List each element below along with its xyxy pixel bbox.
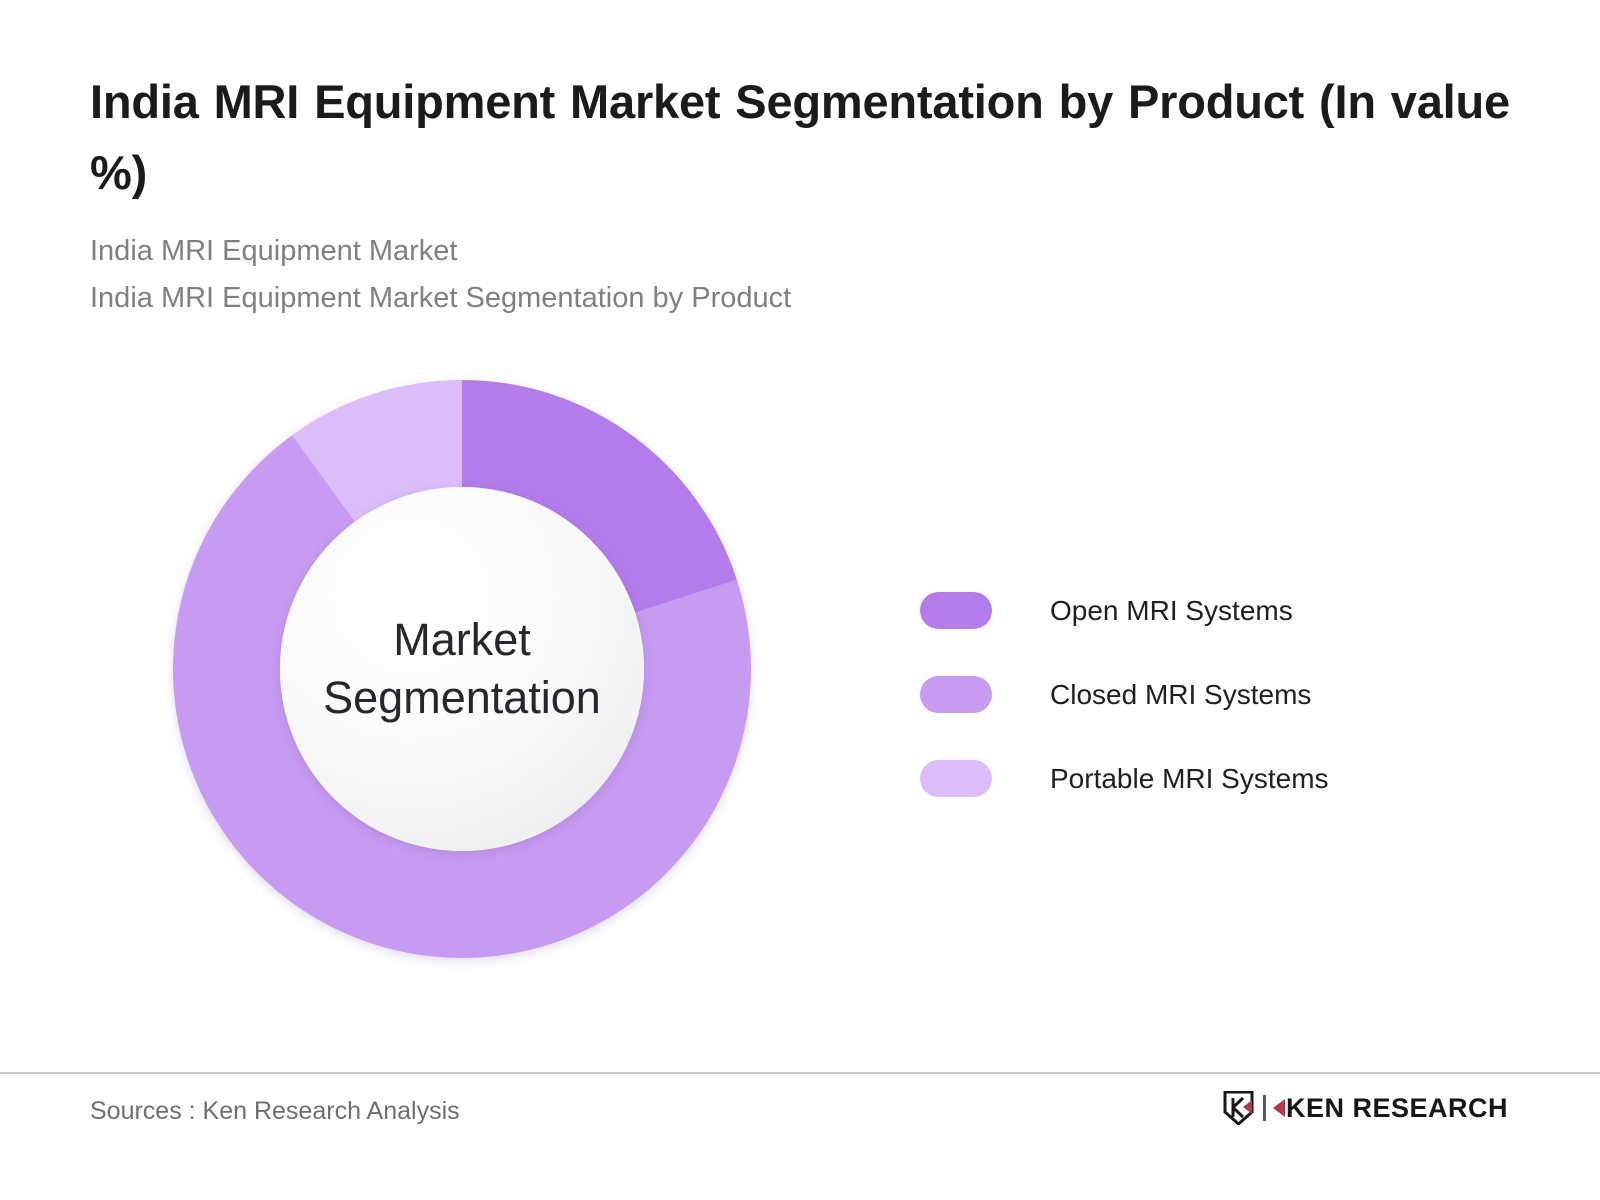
logo-text: KEN RESEARCH xyxy=(1286,1095,1508,1122)
footer-divider xyxy=(0,1072,1600,1074)
ken-research-logo: KEN RESEARCH xyxy=(1223,1090,1508,1126)
legend-color-swatch xyxy=(920,592,992,629)
subtitle-block: India MRI Equipment Market India MRI Equ… xyxy=(90,228,1390,322)
logo-separator xyxy=(1263,1095,1266,1121)
legend-item[interactable]: Closed MRI Systems xyxy=(920,676,1329,713)
ken-shield-icon xyxy=(1223,1091,1254,1125)
legend-label: Closed MRI Systems xyxy=(1050,679,1311,711)
legend-item[interactable]: Portable MRI Systems xyxy=(920,760,1329,797)
chart-legend: Open MRI SystemsClosed MRI SystemsPortab… xyxy=(920,592,1329,797)
donut-chart: Market Segmentation xyxy=(0,330,940,1030)
legend-color-swatch xyxy=(920,760,992,797)
sources-text: Sources : Ken Research Analysis xyxy=(90,1097,460,1126)
subtitle-line-1: India MRI Equipment Market xyxy=(90,228,1390,275)
slide-canvas: India MRI Equipment Market Segmentation … xyxy=(0,0,1600,1200)
subtitle-line-2: India MRI Equipment Market Segmentation … xyxy=(90,275,1390,322)
legend-color-swatch xyxy=(920,676,992,713)
page-title: India MRI Equipment Market Segmentation … xyxy=(90,66,1510,209)
center-label-line-2: Segmentation xyxy=(323,669,601,727)
donut-center-label: Market Segmentation xyxy=(280,487,644,851)
center-label-line-1: Market xyxy=(393,611,531,669)
legend-label: Open MRI Systems xyxy=(1050,595,1293,627)
legend-label: Portable MRI Systems xyxy=(1050,763,1329,795)
legend-item[interactable]: Open MRI Systems xyxy=(920,592,1329,629)
logo-triangle-icon xyxy=(1273,1099,1285,1117)
donut-ring: Market Segmentation xyxy=(173,380,751,958)
